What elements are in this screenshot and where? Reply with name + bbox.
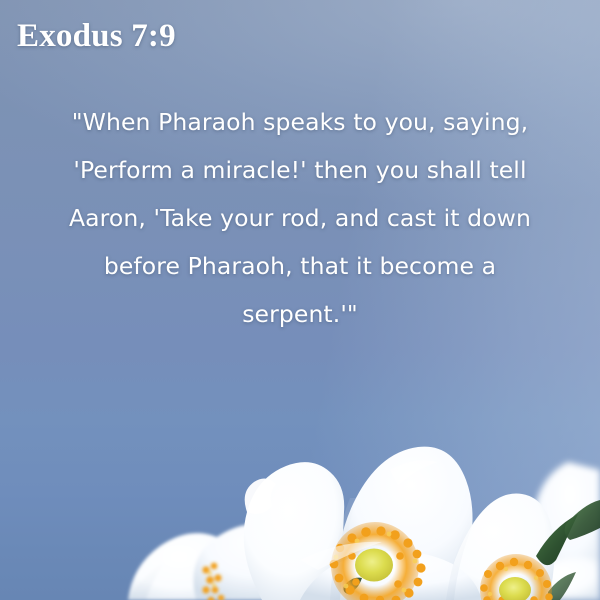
verse-line: "When Pharaoh speaks to you, saying, bbox=[30, 98, 570, 146]
page-title: Exodus 7:9 bbox=[17, 16, 176, 56]
verse-text-block: "When Pharaoh speaks to you, saying, 'Pe… bbox=[30, 98, 570, 338]
verse-line: serpent.'" bbox=[30, 290, 570, 338]
scripture-image-canvas: Exodus 7:9 "When Pharaoh speaks to you, … bbox=[0, 0, 600, 600]
verse-line: before Pharaoh, that it become a bbox=[30, 242, 570, 290]
verse-line: Aaron, 'Take your rod, and cast it down bbox=[30, 194, 570, 242]
verse-line: 'Perform a miracle!' then you shall tell bbox=[30, 146, 570, 194]
